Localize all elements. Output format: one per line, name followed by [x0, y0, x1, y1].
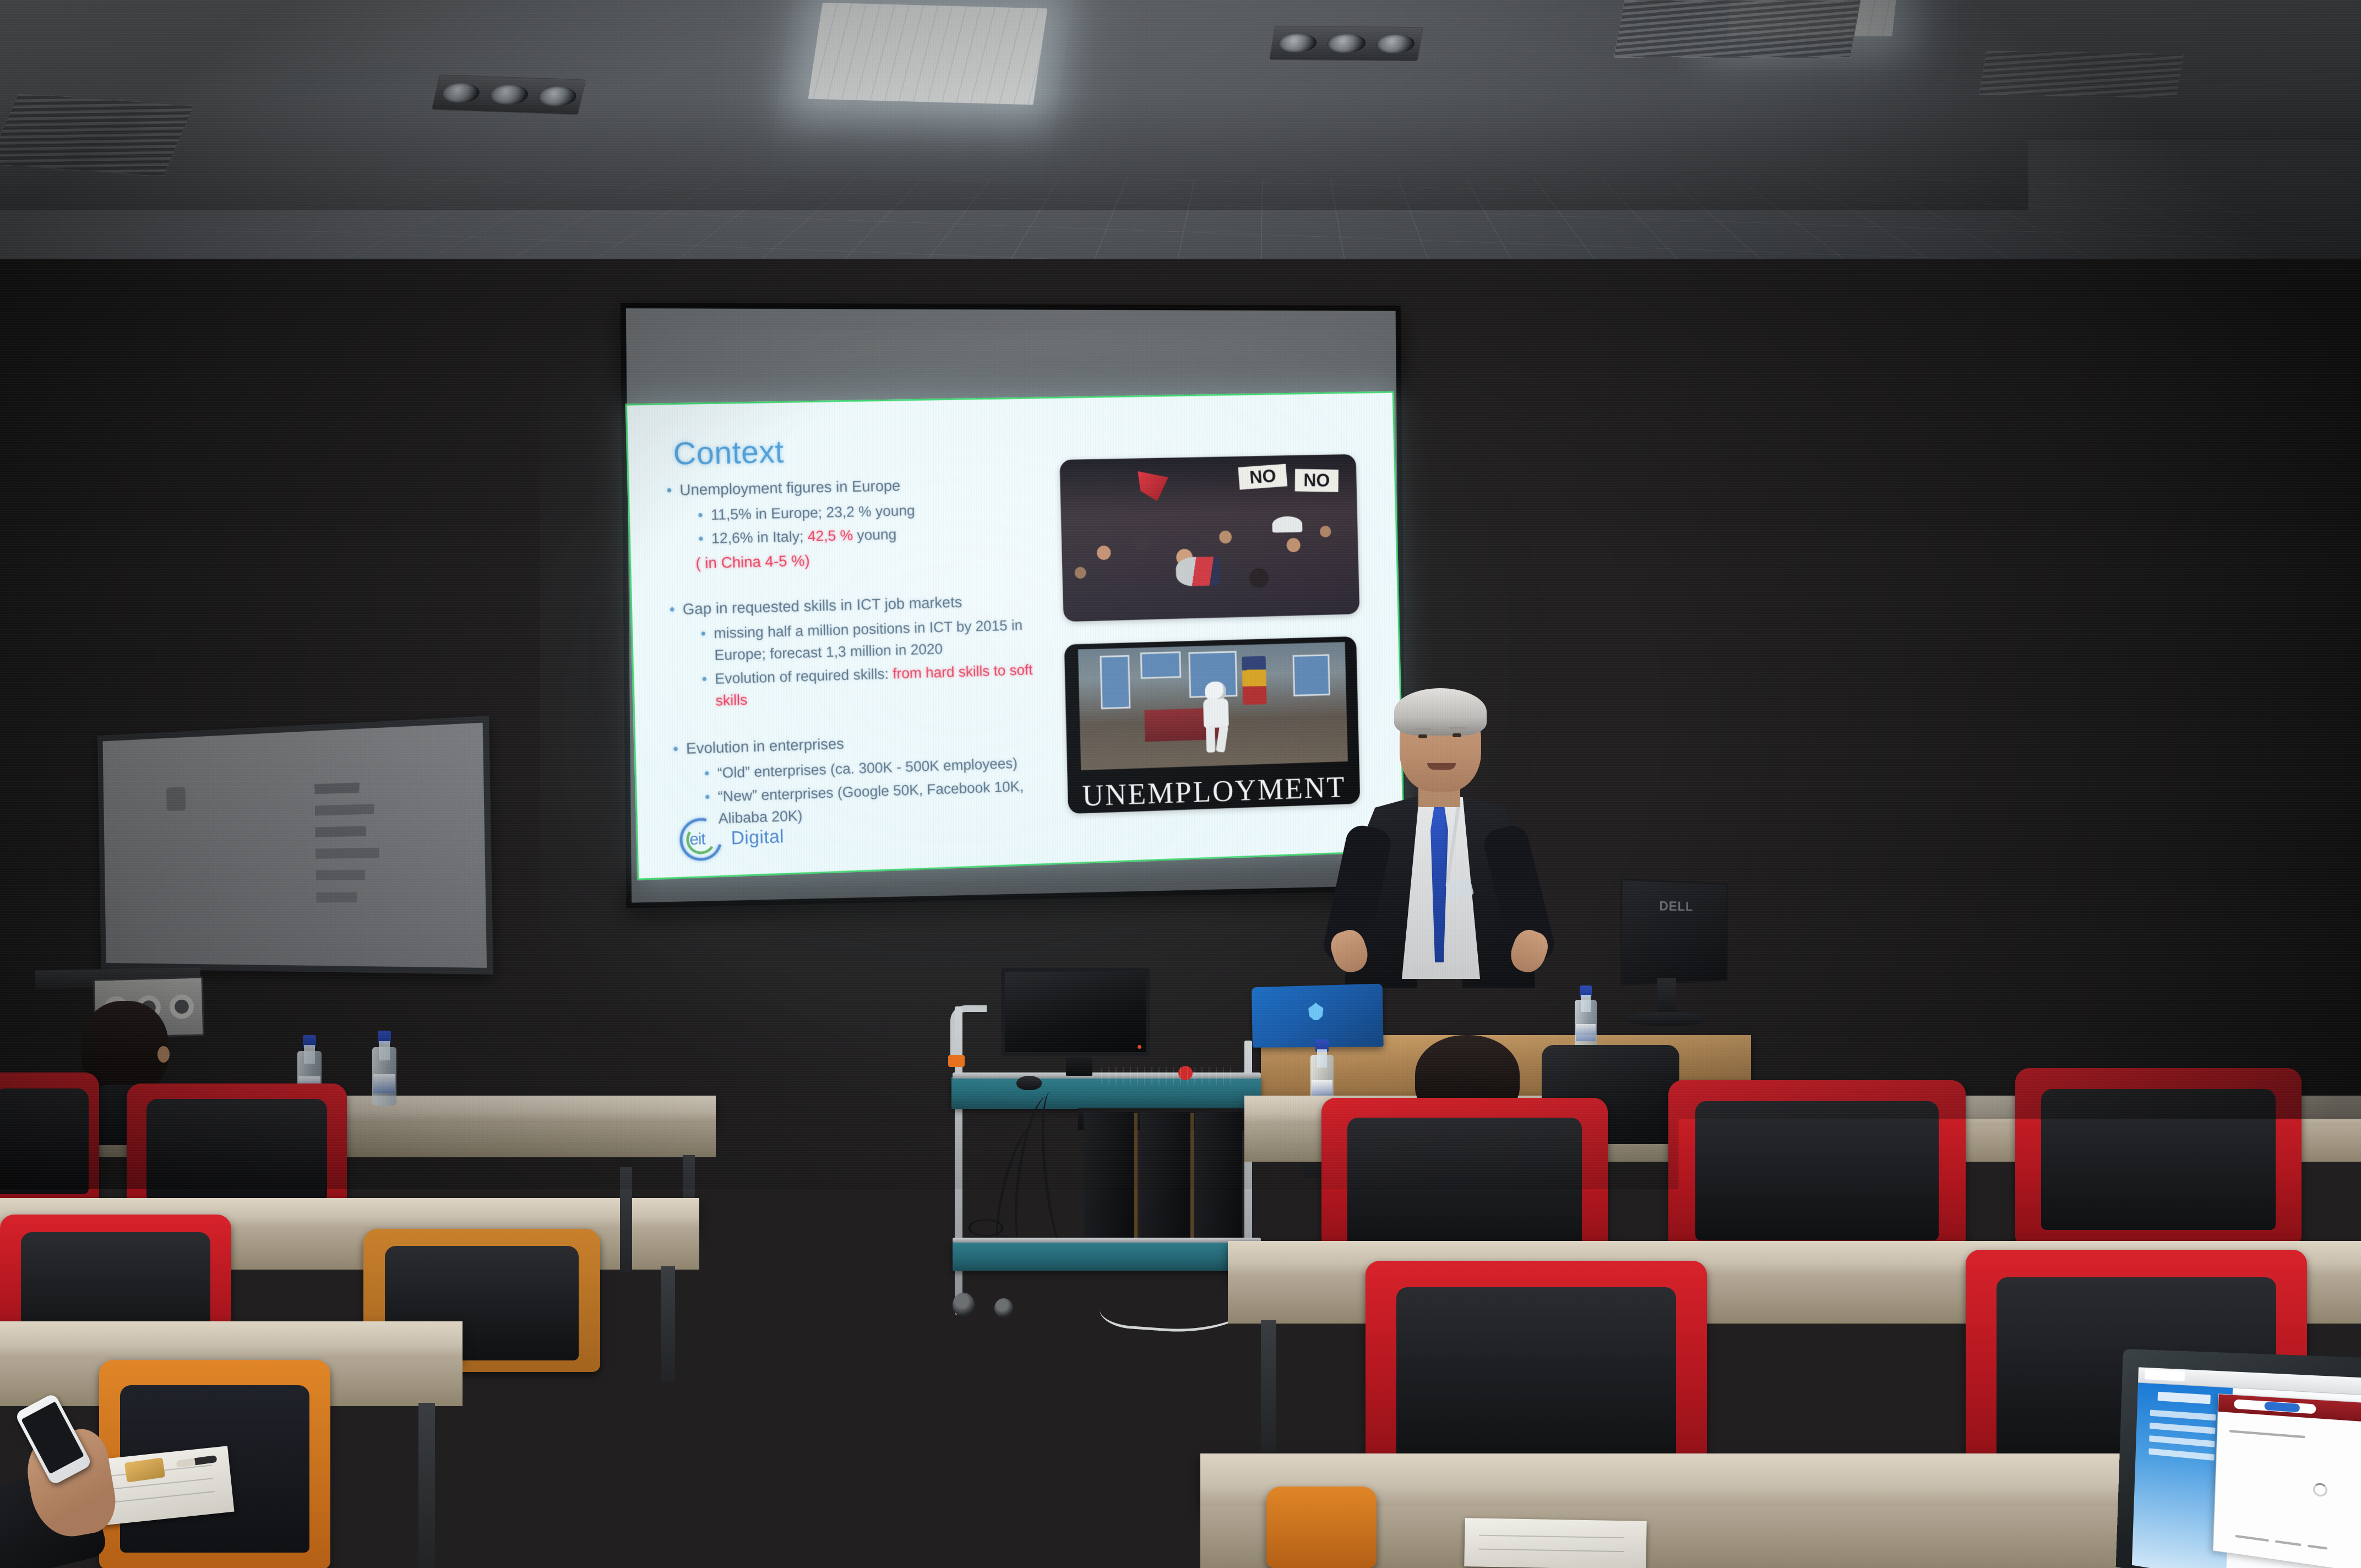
- loading-spinner-icon: [2313, 1483, 2327, 1498]
- water-bottle[interactable]: [372, 1031, 396, 1106]
- slide-bullet-5: missing half a million positions in ICT …: [667, 614, 1055, 668]
- presenter-hair: [1394, 688, 1487, 736]
- notebook: [1464, 1518, 1646, 1568]
- lecture-chair[interactable]: [0, 1072, 99, 1205]
- student-laptop[interactable]: [2116, 1349, 2361, 1568]
- train-sign: [1140, 651, 1181, 679]
- train-window-1: [1100, 655, 1130, 709]
- laptop-screen[interactable]: [2132, 1367, 2361, 1568]
- stormtrooper-figure: [1200, 681, 1234, 752]
- curtain-side-panel: [2191, 237, 2221, 600]
- protest-sign-a: NO: [1238, 464, 1287, 489]
- pc-tower: [1195, 1112, 1242, 1244]
- dell-monitor-base: [1625, 1012, 1708, 1026]
- projection-screen: Context Unemployment figures in Europe 1…: [621, 303, 1406, 908]
- slide-bullet-2-text: 12,6% in Italy;: [711, 528, 808, 547]
- protest-sign-b: NO: [1294, 469, 1338, 492]
- desk-leg: [661, 1266, 675, 1382]
- macbook-laptop[interactable]: [1252, 984, 1384, 1048]
- cart-wheel: [953, 1293, 975, 1317]
- slide-bullet-3-tail: ): [804, 552, 810, 569]
- side-chair[interactable]: [1944, 936, 2037, 1041]
- classroom-photo: Context Unemployment figures in Europe 1…: [0, 0, 2361, 1568]
- lecture-chair[interactable]: [1366, 1261, 1707, 1481]
- presenter-mouth: [1427, 763, 1456, 770]
- student-desk: [0, 1321, 463, 1361]
- side-chair[interactable]: [1839, 947, 1938, 1057]
- desk-leg: [1261, 1320, 1276, 1452]
- cart-wheel: [994, 1298, 1013, 1318]
- water-bottle[interactable]: [1575, 986, 1597, 1052]
- apple-logo-icon: [1308, 1003, 1324, 1021]
- lecture-chair[interactable]: [127, 1084, 347, 1211]
- cart-monitor[interactable]: [1001, 968, 1150, 1056]
- pc-tower: [1140, 1112, 1190, 1244]
- presenter: [1321, 688, 1553, 997]
- cart-speaker: [1066, 1057, 1092, 1076]
- wall-trim-band-upper: [0, 251, 2361, 263]
- cart-knob-orange: [948, 1055, 965, 1067]
- right-dark-board: [2235, 562, 2361, 947]
- pc-tower: [1084, 1112, 1134, 1244]
- presentation-slide: Context Unemployment figures in Europe 1…: [625, 391, 1405, 880]
- lecture-chair[interactable]: [1668, 1080, 1966, 1254]
- subway-car-interior: [1078, 642, 1348, 770]
- slide-title: Context: [673, 433, 785, 472]
- eit-digital-wordmark: Digital: [731, 826, 785, 849]
- aircon-control-panel[interactable]: [2043, 759, 2109, 773]
- computer-keyboard[interactable]: [1101, 1067, 1231, 1085]
- overlay-window[interactable]: [2213, 1393, 2361, 1568]
- dell-monitor[interactable]: DELL: [1620, 879, 1728, 986]
- train-poster: [1242, 656, 1267, 705]
- ceiling: [0, 0, 2361, 259]
- slide-bullet-3-highlight: in China 4-5 %: [705, 552, 805, 571]
- slide-body: Unemployment figures in Europe 11,5% in …: [663, 472, 1059, 834]
- computer-mouse[interactable]: [1016, 1076, 1042, 1090]
- dell-monitor-stand: [1657, 978, 1676, 1016]
- desk-leg: [418, 1403, 435, 1568]
- dell-brand-label: DELL: [1659, 899, 1693, 915]
- browser-tab[interactable]: [2145, 1369, 2185, 1381]
- ceiling-shading: [0, 0, 2361, 259]
- aircon-energy-label: [2122, 755, 2141, 774]
- eit-digital-logo: eit Digital: [677, 813, 785, 864]
- eit-logo-mark-icon: eit: [677, 815, 725, 864]
- slide-bullet-3-text: (: [695, 554, 705, 571]
- unemployment-meme-photo: UNEMPLOYMENT: [1064, 636, 1361, 814]
- slide-bullet-2-tail: young: [853, 526, 897, 543]
- desk-leg: [620, 1167, 632, 1272]
- whiteboard: [97, 716, 493, 974]
- meme-caption: UNEMPLOYMENT: [1068, 772, 1360, 812]
- lecture-chair[interactable]: [1321, 1098, 1608, 1263]
- lecture-chair[interactable]: [2015, 1068, 2302, 1244]
- whiteboard-smudge: [166, 787, 186, 811]
- sidebar-header: [2158, 1391, 2211, 1404]
- slide-bullet-0: Unemployment figures in Europe: [663, 472, 1051, 502]
- eit-logo-text: eit: [689, 830, 705, 849]
- megaphone: [1176, 557, 1220, 587]
- av-equipment-cart: [936, 958, 1266, 1332]
- lecture-chair[interactable]: [1266, 1487, 1377, 1568]
- aircon-display: [2064, 762, 2088, 770]
- protest-hat: [1272, 516, 1303, 532]
- wall-left-shadow: [0, 242, 66, 1178]
- aircon-top-grille: [2000, 700, 2154, 744]
- whiteboard-faint-marks: [314, 769, 420, 918]
- protest-crowd-photo: NO NO: [1059, 454, 1359, 622]
- slide-bullet-6-text: Evolution of required skills:: [715, 666, 893, 687]
- slide-bullet-2-highlight: 42,5 %: [807, 527, 853, 545]
